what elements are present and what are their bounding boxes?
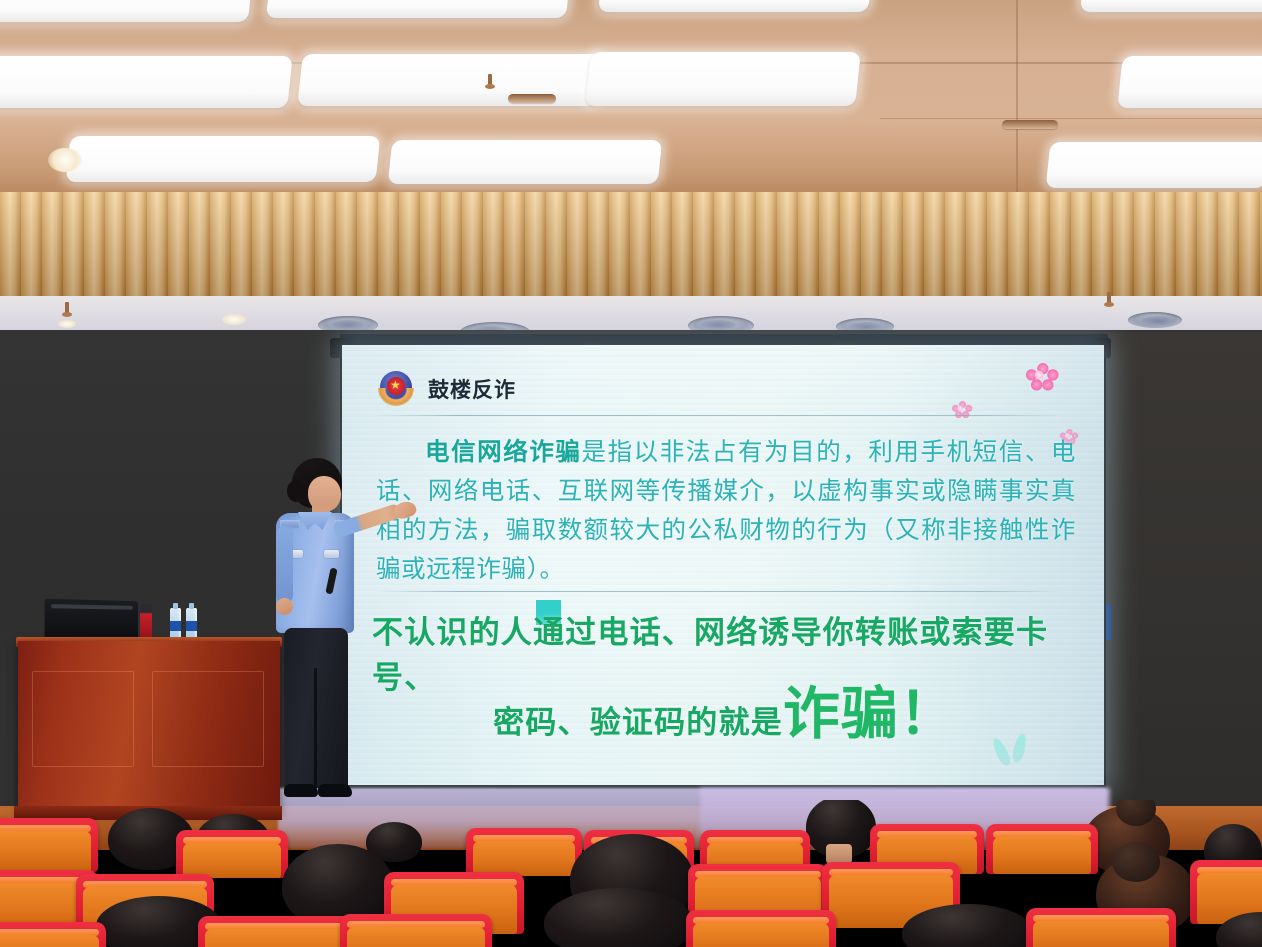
ceiling-light-panel: [66, 136, 381, 182]
slide-brand-title: 鼓楼反诈: [428, 374, 516, 404]
slide-headline-line2: 密码、验证码的就是 诈骗！: [372, 689, 1078, 742]
ceiling-vent: [508, 94, 556, 103]
water-bottle-icon: [186, 608, 197, 640]
headline-prefix: 密码、验证码的就是: [493, 697, 783, 742]
presenter-shoe: [318, 784, 352, 797]
presenter-left-hand: [276, 598, 293, 615]
water-bottle-icon: [170, 608, 181, 640]
slide-paragraph: 电信网络诈骗是指以非法占有为目的，利用手机短信、电话、网络电话、互联网等传播媒介…: [376, 433, 1076, 589]
downlight-icon: [58, 320, 76, 328]
ceiling: [0, 0, 1262, 196]
projection-screen: 鼓楼反诈 电信网络诈骗是指以非法占有为目的，利用手机短信、电话、网络电话、互联网…: [342, 345, 1104, 785]
seat[interactable]: [176, 830, 288, 878]
seat[interactable]: [340, 914, 492, 947]
paragraph-bold-lead: 电信网络诈骗: [425, 439, 581, 466]
audience-neck: [826, 844, 852, 864]
seat[interactable]: [986, 824, 1098, 874]
headline-emphasis: 诈骗！: [783, 689, 957, 740]
ceiling-vent: [1002, 120, 1058, 129]
ceiling-light-panel: [0, 0, 252, 22]
ceiling-light-panel: [388, 140, 663, 184]
wood-slat-wall: [0, 192, 1262, 300]
slide-divider-mid: [376, 591, 1066, 592]
slide-divider-top: [374, 415, 1064, 416]
podium-desk: [18, 641, 280, 813]
slide-content: 鼓楼反诈 电信网络诈骗是指以非法占有为目的，利用手机短信、电话、网络电话、互联网…: [342, 345, 1104, 785]
presenter-trousers: [284, 628, 348, 788]
ceiling-seam: [1016, 0, 1018, 196]
presenter-badge-patch: [324, 550, 339, 558]
seat[interactable]: [1026, 908, 1176, 947]
stage-side-wall: [1104, 332, 1262, 824]
presenter-hair-bun: [287, 480, 305, 502]
ceiling-light-panel: [585, 52, 861, 106]
auditorium-scene: 鼓楼反诈 电信网络诈骗是指以非法占有为目的，利用手机短信、电话、网络电话、互联网…: [0, 0, 1262, 947]
ceiling-speaker-icon: [1128, 312, 1182, 328]
ceiling-seam: [880, 118, 1262, 119]
presenter-police-officer: [262, 458, 384, 810]
seat[interactable]: [686, 910, 836, 947]
sprinkler-icon: [62, 302, 72, 318]
podium-panel-inset: [152, 671, 264, 767]
ceiling-light-panel: [1117, 56, 1262, 108]
seat[interactable]: [0, 922, 106, 947]
slide-headline-line1: 不认识的人通过电话、网络诱导你转账或索要卡号、: [372, 607, 1078, 697]
downlight-icon: [222, 314, 246, 325]
audience-hair-bun: [1112, 842, 1160, 882]
downlight-icon: [48, 148, 82, 172]
presenter-shoe: [284, 784, 318, 797]
podium-panel-inset: [32, 671, 134, 767]
ceiling-light-panel: [1080, 0, 1262, 12]
police-badge-icon: [378, 371, 414, 407]
ceiling-light-panel: [598, 0, 872, 12]
ceiling-light-panel: [0, 56, 293, 108]
sprinkler-icon: [485, 74, 495, 90]
seat[interactable]: [198, 916, 354, 947]
seat[interactable]: [466, 828, 582, 876]
ceiling-light-panel: [1046, 142, 1262, 188]
sprinkler-icon: [1104, 292, 1114, 308]
presenter-left-arm: [276, 526, 293, 604]
screen-edge-marker: [1106, 604, 1111, 640]
ceiling-light-panel: [297, 54, 602, 106]
audience-seating: [0, 800, 1262, 947]
ceiling-light-panel: [266, 0, 570, 18]
slide-brand-header: 鼓楼反诈: [378, 371, 516, 407]
seat[interactable]: [0, 818, 98, 872]
